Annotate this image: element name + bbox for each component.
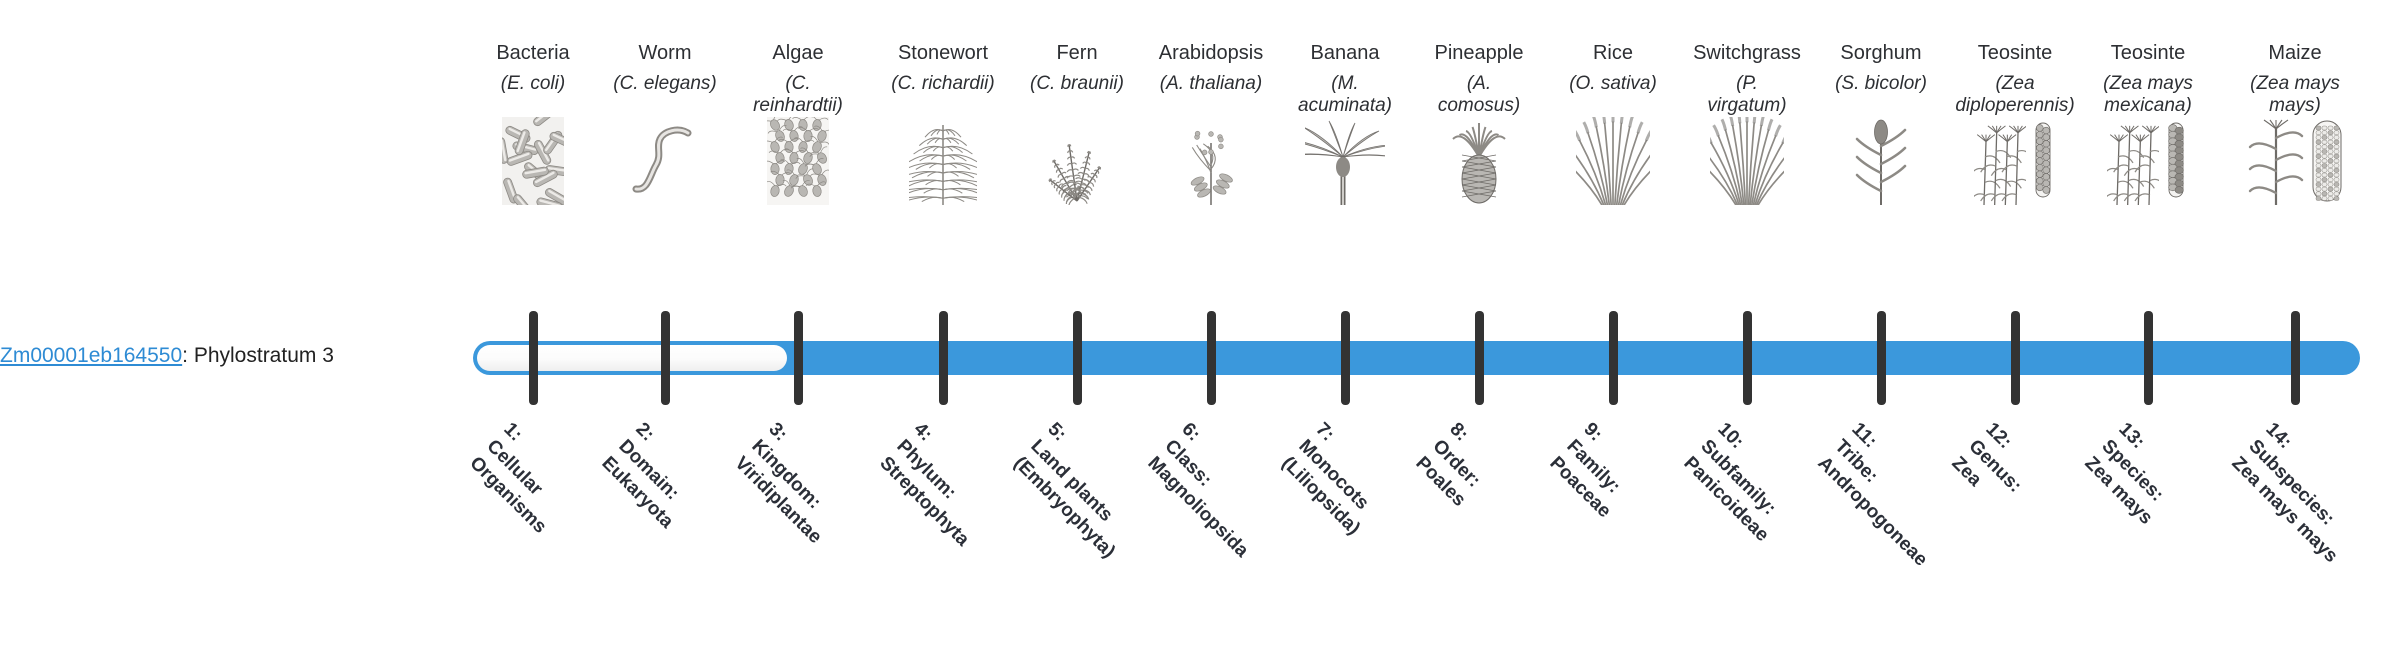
species-common-name: Sorghum [1808, 42, 1954, 65]
species-common-name: Fern [1004, 42, 1150, 65]
rice-illustration [1540, 110, 1686, 205]
teosinte-diploperennis-illustration [1942, 110, 2088, 205]
phylostratigraphy-timeline: Zm00001eb164550: Phylostratum 3 Bacteria… [0, 0, 2400, 580]
species-scientific-name: (E. coli) [460, 73, 606, 95]
species-scientific-name: (O. sativa) [1540, 73, 1686, 95]
phylostratum-tick-14[interactable] [2291, 311, 2300, 405]
banana-illustration [1272, 110, 1418, 205]
phylostratum-tick-12[interactable] [2011, 311, 2020, 405]
species-common-name: Arabidopsis [1138, 42, 1284, 65]
species-common-name: Algae [725, 42, 871, 65]
species-scientific-name: (A. thaliana) [1138, 73, 1284, 95]
species-scientific-name: (C. richardii) [870, 73, 1016, 95]
species-common-name: Banana [1272, 42, 1418, 65]
teosinte-mexicana-illustration [2075, 110, 2221, 205]
pineapple-illustration [1406, 110, 1552, 205]
nematode-illustration [592, 110, 738, 205]
phylostratum-unfilled-region [477, 345, 787, 371]
species-common-name: Rice [1540, 42, 1686, 65]
algae-illustration [725, 110, 871, 205]
phylostratum-tick-4[interactable] [939, 311, 948, 405]
species-common-name: Teosinte [1942, 42, 2088, 65]
species-scientific-name: (S. bicolor) [1808, 73, 1954, 95]
phylostratum-tick-5[interactable] [1073, 311, 1082, 405]
phylostratum-tick-2[interactable] [661, 311, 670, 405]
phylostratum-tick-13[interactable] [2144, 311, 2153, 405]
species-common-name: Pineapple [1406, 42, 1552, 65]
maize-illustration [2222, 110, 2368, 205]
stonewort-illustration [870, 110, 1016, 205]
species-scientific-name: (C. elegans) [592, 73, 738, 95]
species-common-name: Switchgrass [1674, 42, 1820, 65]
sorghum-illustration [1808, 110, 1954, 205]
arabidopsis-illustration [1138, 110, 1284, 205]
phylostratum-tick-3[interactable] [794, 311, 803, 405]
species-scientific-name: (C. braunii) [1004, 73, 1150, 95]
species-common-name: Maize [2222, 42, 2368, 65]
phylostratum-tick-9[interactable] [1609, 311, 1618, 405]
phylostratum-tick-11[interactable] [1877, 311, 1886, 405]
switchgrass-illustration [1674, 110, 1820, 205]
bacteria-illustration [460, 110, 606, 205]
fern-illustration [1004, 110, 1150, 205]
phylostratum-tick-6[interactable] [1207, 311, 1216, 405]
phylostratum-tick-8[interactable] [1475, 311, 1484, 405]
species-common-name: Teosinte [2075, 42, 2221, 65]
phylostratum-tick-7[interactable] [1341, 311, 1350, 405]
species-common-name: Worm [592, 42, 738, 65]
phylostratum-tick-1[interactable] [529, 311, 538, 405]
phylostratum-tick-10[interactable] [1743, 311, 1752, 405]
species-common-name: Stonewort [870, 42, 1016, 65]
species-common-name: Bacteria [460, 42, 606, 65]
